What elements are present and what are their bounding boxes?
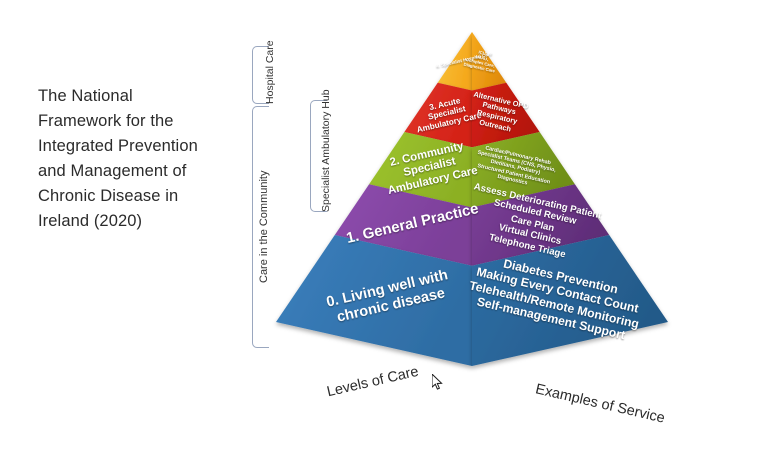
title-line: Ireland (2020) bbox=[38, 209, 243, 234]
mouse-pointer-icon bbox=[432, 374, 444, 392]
slide-canvas: The National Framework for the Integrate… bbox=[0, 0, 768, 456]
pyramid-diagram: 4. Specialist Hospital CareICU,AMAU,Comp… bbox=[258, 14, 728, 434]
page-title: The National Framework for the Integrate… bbox=[38, 84, 243, 234]
title-line: Framework for the bbox=[38, 109, 243, 134]
pyramid-level-4-right-face bbox=[472, 32, 506, 90]
title-line: Integrated Prevention bbox=[38, 134, 243, 159]
title-line: Chronic Disease in bbox=[38, 184, 243, 209]
title-line: and Management of bbox=[38, 159, 243, 184]
pyramid-level-4-left-face bbox=[438, 32, 472, 90]
title-line: The National bbox=[38, 84, 243, 109]
